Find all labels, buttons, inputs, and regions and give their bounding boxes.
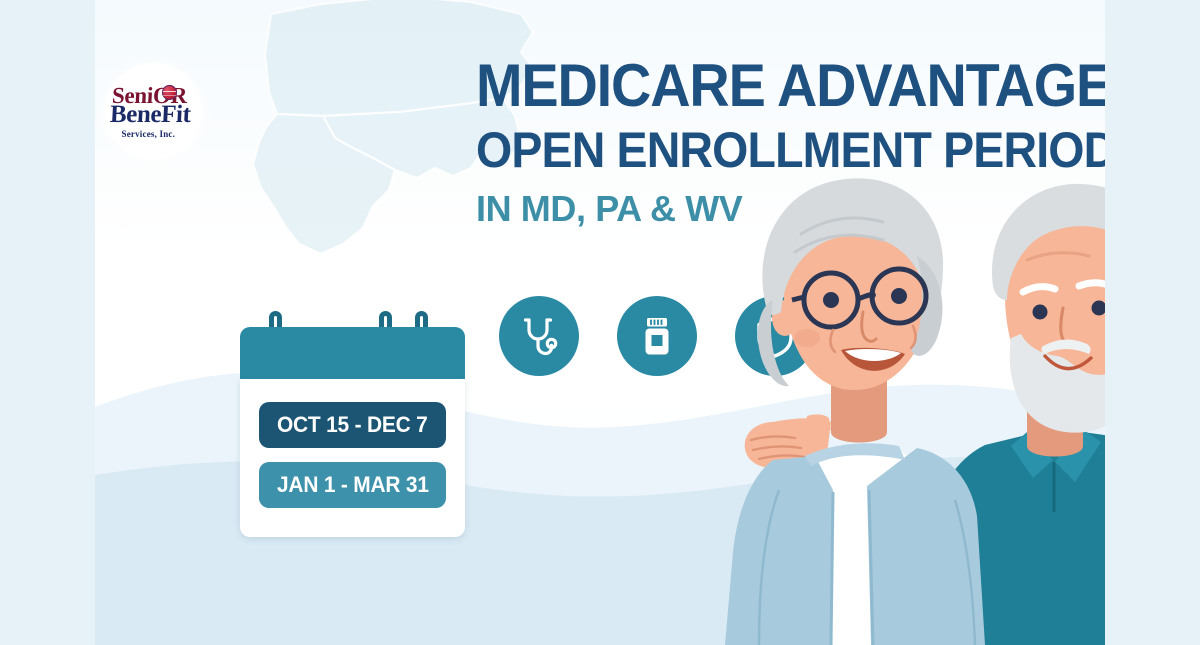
logo-inner: SeniOR BeneFit Services, Inc. <box>110 79 198 145</box>
date-range-badge-1: OCT 15 - DEC 7 <box>259 402 446 448</box>
poster-canvas: MEDICARE ADVANTAGE OPEN ENROLLMENT PERIO… <box>95 0 1105 645</box>
left-border-band <box>0 0 95 645</box>
date-range-label-1: OCT 15 - DEC 7 <box>277 412 428 438</box>
enrollment-calendar: OCT 15 - DEC 7 JAN 1 - MAR 31 <box>240 311 465 537</box>
logo-globe-icon <box>162 85 177 100</box>
calendar-body: OCT 15 - DEC 7 JAN 1 - MAR 31 <box>240 379 465 537</box>
headline-line1: MEDICARE ADVANTAGE <box>476 57 1090 116</box>
right-border-band <box>1105 0 1200 645</box>
date-range-badge-2: JAN 1 - MAR 31 <box>259 462 446 508</box>
poster-root: MEDICARE ADVANTAGE OPEN ENROLLMENT PERIO… <box>0 0 1200 645</box>
logo-line-benefit: BeneFit <box>109 101 191 129</box>
senior-couple-illustration <box>655 160 1105 645</box>
logo-line-services: Services, Inc. <box>122 129 176 139</box>
calendar-header-bar <box>240 327 465 379</box>
stethoscope-icon <box>499 296 579 376</box>
company-logo: SeniOR BeneFit Services, Inc. <box>105 63 202 160</box>
date-range-label-2: JAN 1 - MAR 31 <box>277 472 429 498</box>
